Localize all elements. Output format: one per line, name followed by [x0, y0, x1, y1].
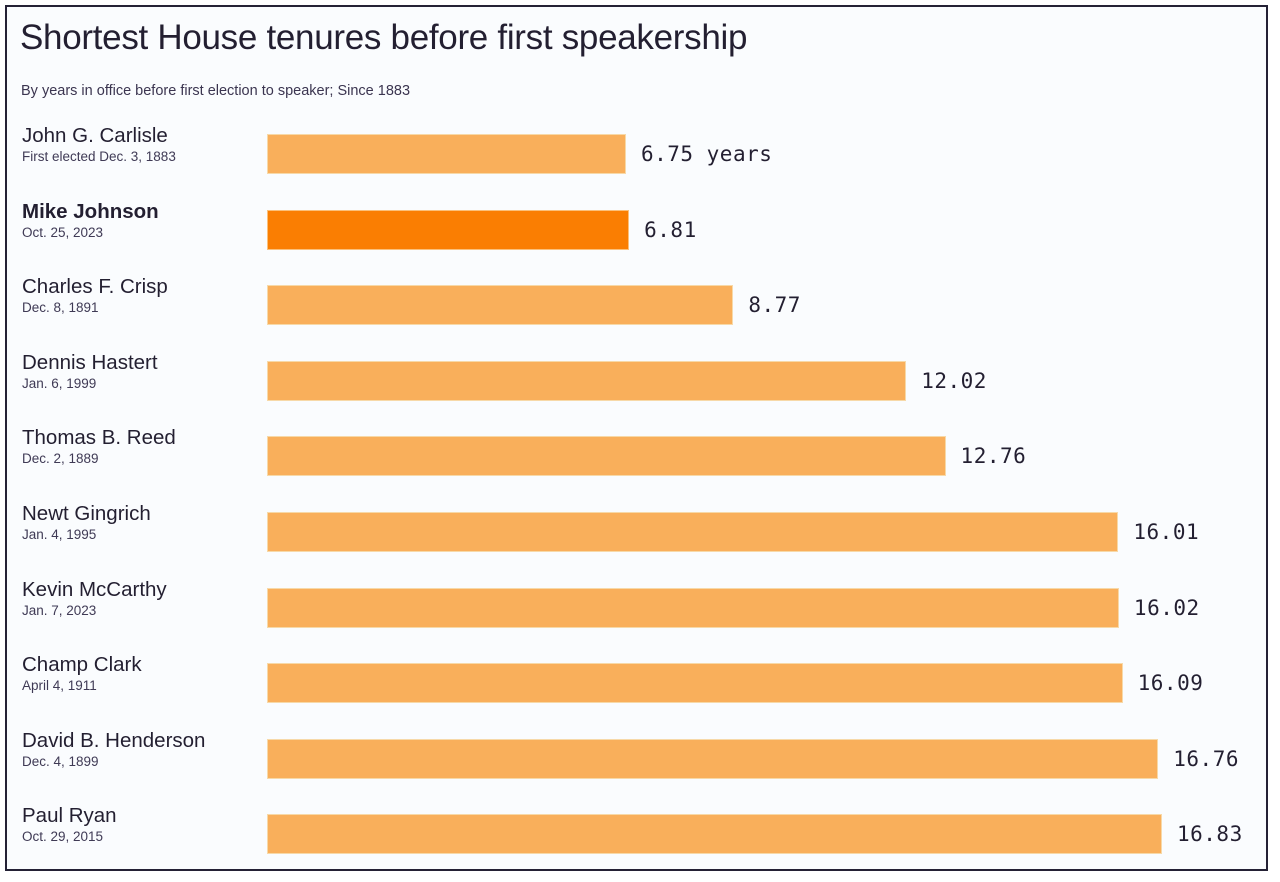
- bar-value-label: 6.81: [644, 218, 697, 242]
- bar-row: Champ ClarkApril 4, 191116.09: [7, 652, 1266, 728]
- speaker-first-elected-date: First elected Dec. 3, 1883: [22, 148, 262, 165]
- speaker-name: David B. Henderson: [22, 728, 262, 753]
- bar-track: 16.76: [267, 739, 1266, 779]
- chart-subtitle: By years in office before first election…: [21, 83, 410, 99]
- bar-track: 16.09: [267, 663, 1266, 703]
- bar-row-label: Dennis HastertJan. 6, 1999: [22, 350, 262, 392]
- chart-inner: Shortest House tenures before first spea…: [7, 7, 1266, 869]
- bar: [267, 285, 733, 325]
- bar: [267, 361, 906, 401]
- bar-track: 16.83: [267, 814, 1266, 854]
- bar-track: 6.81: [267, 210, 1266, 250]
- page-title: Shortest House tenures before first spea…: [20, 18, 747, 58]
- bar-value-label: 16.09: [1138, 671, 1204, 695]
- chart-card: Shortest House tenures before first spea…: [5, 5, 1268, 871]
- bar-row: John G. CarlisleFirst elected Dec. 3, 18…: [7, 123, 1266, 199]
- bar-track: 12.02: [267, 361, 1266, 401]
- speaker-first-elected-date: Jan. 7, 2023: [22, 602, 262, 619]
- bar: [267, 739, 1158, 779]
- bar-row-label: David B. HendersonDec. 4, 1899: [22, 728, 262, 770]
- speaker-first-elected-date: Dec. 4, 1899: [22, 753, 262, 770]
- bar: [267, 588, 1119, 628]
- bar-row: Newt GingrichJan. 4, 199516.01: [7, 501, 1266, 577]
- bar-value-label: 16.01: [1133, 520, 1199, 544]
- bar-value-label: 6.75 years: [641, 142, 772, 166]
- bar-value-label: 12.02: [921, 369, 987, 393]
- bar-row: Dennis HastertJan. 6, 199912.02: [7, 350, 1266, 426]
- bar-track: 12.76: [267, 436, 1266, 476]
- bar: [267, 814, 1162, 854]
- bar-row-label: Charles F. CrispDec. 8, 1891: [22, 274, 262, 316]
- bar-track: 6.75 years: [267, 134, 1266, 174]
- speaker-first-elected-date: Jan. 4, 1995: [22, 526, 262, 543]
- bar-row: Paul RyanOct. 29, 201516.83: [7, 803, 1266, 879]
- bar-row-label: John G. CarlisleFirst elected Dec. 3, 18…: [22, 123, 262, 165]
- speaker-first-elected-date: Oct. 29, 2015: [22, 828, 262, 845]
- bar: [267, 512, 1118, 552]
- bar: [267, 436, 946, 476]
- bar-row-label: Mike JohnsonOct. 25, 2023: [22, 199, 262, 241]
- bar-row-label: Champ ClarkApril 4, 1911: [22, 652, 262, 694]
- bar-row-label: Kevin McCarthyJan. 7, 2023: [22, 577, 262, 619]
- speaker-name: Thomas B. Reed: [22, 425, 262, 450]
- bar-row: Charles F. CrispDec. 8, 18918.77: [7, 274, 1266, 350]
- speaker-name: Champ Clark: [22, 652, 262, 677]
- bar-row-label: Newt GingrichJan. 4, 1995: [22, 501, 262, 543]
- bar-track: 16.02: [267, 588, 1266, 628]
- speaker-name: Charles F. Crisp: [22, 274, 262, 299]
- bar-value-label: 8.77: [748, 293, 801, 317]
- bar-row: Thomas B. ReedDec. 2, 188912.76: [7, 425, 1266, 501]
- bar-chart-rows: John G. CarlisleFirst elected Dec. 3, 18…: [7, 123, 1266, 879]
- bar-row-label: Thomas B. ReedDec. 2, 1889: [22, 425, 262, 467]
- bar-row: David B. HendersonDec. 4, 189916.76: [7, 728, 1266, 804]
- speaker-name: Mike Johnson: [22, 199, 262, 224]
- speaker-name: John G. Carlisle: [22, 123, 262, 148]
- bar-row: Kevin McCarthyJan. 7, 202316.02: [7, 577, 1266, 653]
- bar-value-label: 16.83: [1177, 822, 1243, 846]
- speaker-first-elected-date: Dec. 8, 1891: [22, 299, 262, 316]
- speaker-name: Paul Ryan: [22, 803, 262, 828]
- speaker-first-elected-date: Oct. 25, 2023: [22, 224, 262, 241]
- bar-row-label: Paul RyanOct. 29, 2015: [22, 803, 262, 845]
- bar-track: 8.77: [267, 285, 1266, 325]
- bar: [267, 134, 626, 174]
- bar-track: 16.01: [267, 512, 1266, 552]
- speaker-first-elected-date: Dec. 2, 1889: [22, 450, 262, 467]
- speaker-first-elected-date: April 4, 1911: [22, 677, 262, 694]
- bar-row: Mike JohnsonOct. 25, 20236.81: [7, 199, 1266, 275]
- speaker-first-elected-date: Jan. 6, 1999: [22, 375, 262, 392]
- bar-value-label: 12.76: [961, 444, 1027, 468]
- speaker-name: Dennis Hastert: [22, 350, 262, 375]
- bar-highlighted: [267, 210, 629, 250]
- bar-value-label: 16.02: [1134, 596, 1200, 620]
- speaker-name: Newt Gingrich: [22, 501, 262, 526]
- speaker-name: Kevin McCarthy: [22, 577, 262, 602]
- bar: [267, 663, 1123, 703]
- bar-value-label: 16.76: [1173, 747, 1239, 771]
